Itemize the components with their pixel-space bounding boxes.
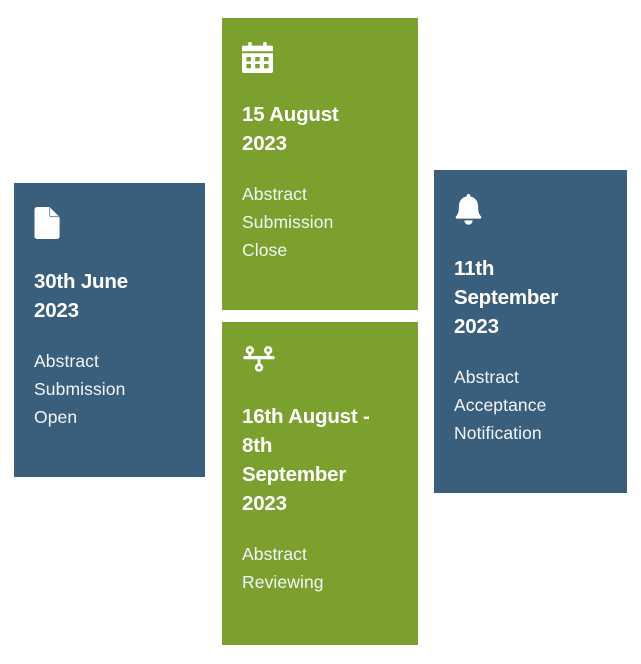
milestone-description: Abstract Submission Close [242, 180, 398, 264]
milestone-date: 30th June 2023 [34, 267, 185, 325]
sitemap-icon [242, 346, 276, 372]
milestone-card-abstract-submission-close[interactable]: 15 August 2023 Abstract Submission Close [222, 18, 418, 310]
milestone-card-abstract-submission-open[interactable]: 30th June 2023 Abstract Submission Open [14, 183, 205, 477]
bell-icon [454, 194, 483, 225]
milestone-description: Abstract Acceptance Notification [454, 363, 607, 447]
abstract-timeline-board: 30th June 2023 Abstract Submission Open [0, 0, 641, 664]
milestone-date: 11th September 2023 [454, 254, 607, 341]
milestone-date: 15 August 2023 [242, 100, 398, 158]
milestone-date: 16th August - 8th September 2023 [242, 402, 398, 518]
milestone-card-abstract-reviewing[interactable]: 16th August - 8th September 2023 Abstrac… [222, 322, 418, 645]
milestone-description: Abstract Submission Open [34, 347, 185, 431]
milestone-card-abstract-acceptance-notification[interactable]: 11th September 2023 Abstract Acceptance … [434, 170, 627, 493]
document-icon [34, 207, 60, 239]
milestone-description: Abstract Reviewing [242, 540, 398, 596]
calendar-icon [242, 42, 273, 73]
